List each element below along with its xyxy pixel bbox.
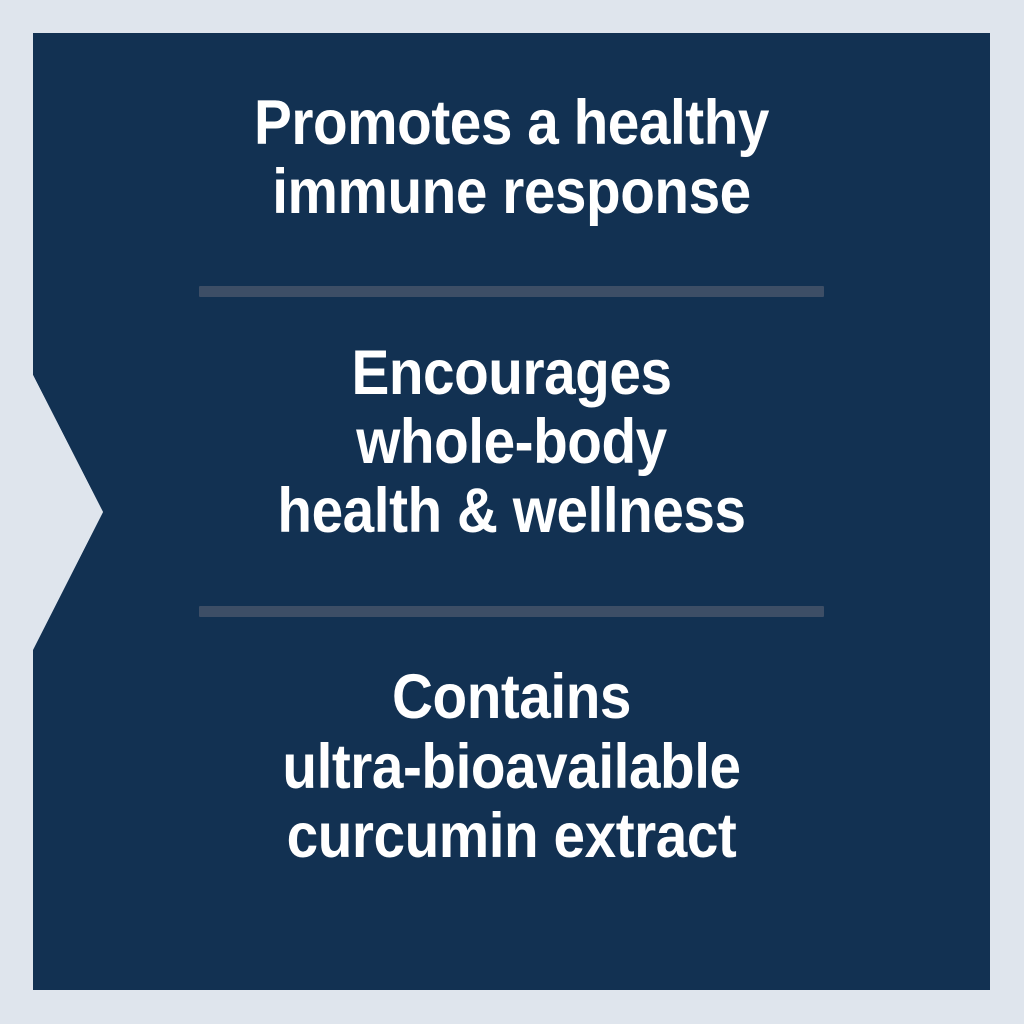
benefit-claim-1: Promotes a healthy immune response bbox=[81, 89, 942, 228]
section-divider-1 bbox=[199, 286, 824, 297]
benefit-claim-3: Contains ultra-bioavailable curcumin ext… bbox=[81, 663, 942, 871]
benefits-content-column: Promotes a healthy immune response Encou… bbox=[33, 33, 990, 990]
product-benefits-panel: Promotes a healthy immune response Encou… bbox=[0, 0, 1024, 1024]
benefit-claim-2: Encourages whole-body health & wellness bbox=[81, 339, 942, 547]
section-divider-2 bbox=[199, 606, 824, 617]
